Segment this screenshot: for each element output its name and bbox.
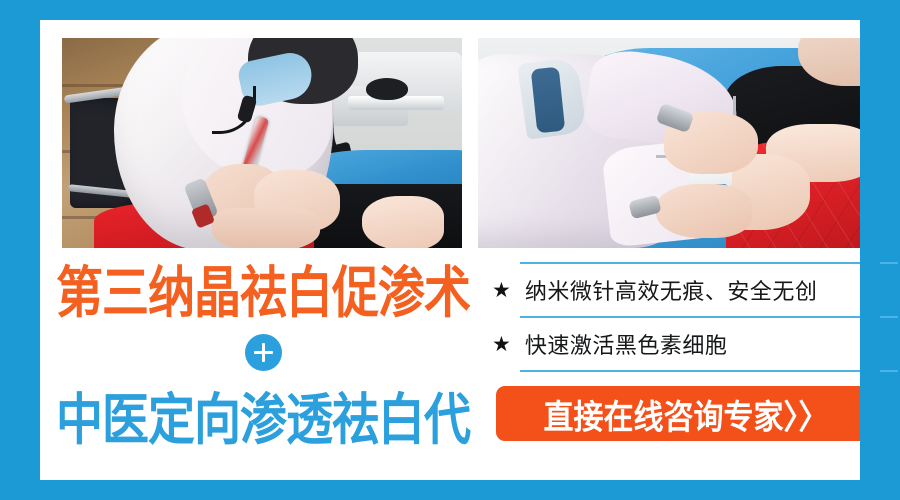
frame-border-right (860, 0, 880, 500)
feature-list: ★ 纳米微针高效无痕、安全无创 ★ 快速激活黑色素细胞 直接在线咨询专家〉〉 (482, 262, 892, 441)
headline-line-1: 第三纳晶祛白促渗术 (56, 266, 470, 323)
frame-border-left (20, 0, 40, 500)
consult-expert-button[interactable]: 直接在线咨询专家〉〉 (496, 386, 876, 441)
frame-border-bottom (20, 480, 900, 500)
photo-gallery (62, 38, 878, 248)
photo-right (478, 38, 878, 248)
photo-left (62, 38, 462, 248)
consult-expert-button-label: 直接在线咨询专家〉〉 (544, 389, 829, 438)
star-icon: ★ (492, 334, 511, 355)
promo-banner: 第三纳晶祛白促渗术 中医定向渗透祛白代 ★ 纳米微针高效无痕、安全无创 ★ 快速… (0, 0, 900, 500)
cta-container: 直接在线咨询专家〉〉 (482, 386, 892, 441)
feature-item-2-label: 快速激活黑色素细胞 (525, 328, 728, 360)
star-icon: ★ (492, 280, 511, 301)
feature-item-2: ★ 快速激活黑色素细胞 (482, 318, 892, 370)
feature-item-1: ★ 纳米微针高效无痕、安全无创 (482, 264, 892, 316)
headline-block: 第三纳晶祛白促渗术 中医定向渗透祛白代 (48, 266, 478, 472)
headline-line-2: 中医定向渗透祛白代 (56, 393, 470, 450)
feature-item-1-label: 纳米微针高效无痕、安全无创 (525, 274, 818, 306)
frame-border-top (20, 0, 900, 20)
separator-bottom (520, 370, 898, 372)
plus-icon (245, 334, 282, 371)
